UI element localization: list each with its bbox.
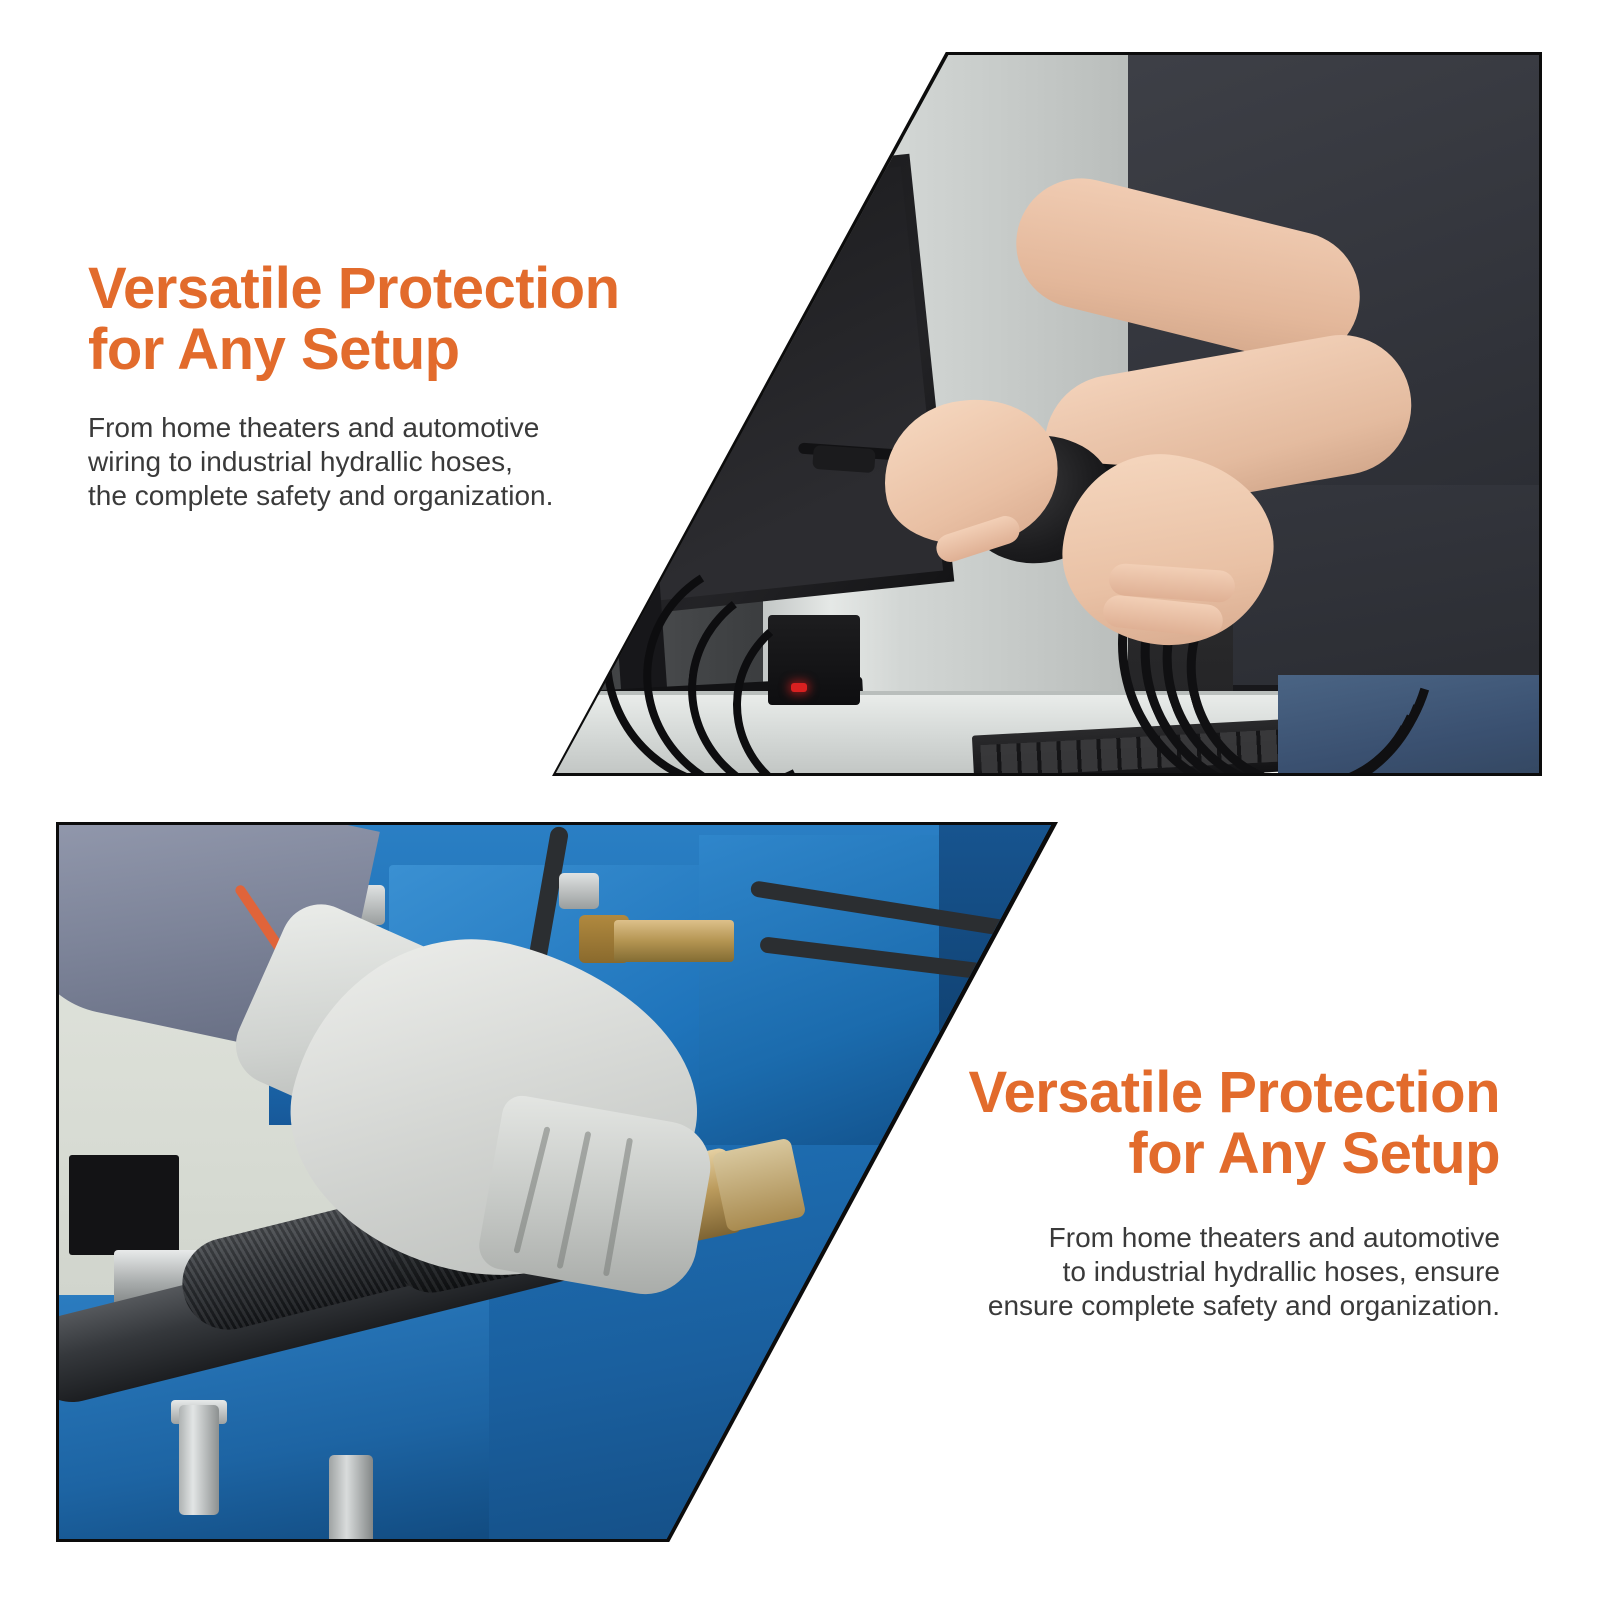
hex-nut xyxy=(559,873,599,909)
blue-machine-dark-panel xyxy=(939,825,1055,1075)
brass-fitting xyxy=(614,920,734,962)
quick-coupler-2 xyxy=(329,1455,373,1539)
bottom-headline: Versatile Protectionfor Any Setup xyxy=(880,1062,1500,1185)
bottom-headline-line1: Versatile Protection xyxy=(968,1060,1500,1125)
office-cable-photo xyxy=(543,55,1539,773)
top-body-text: From home theaters and automotivewiring … xyxy=(88,381,648,513)
product-feature-banner: Versatile Protectionfor Any Setup From h… xyxy=(0,0,1600,1600)
top-text-block: Versatile Protectionfor Any Setup From h… xyxy=(88,258,648,513)
quick-coupler xyxy=(179,1405,219,1515)
bottom-body-line2: to industrial hydrallic hoses, ensure xyxy=(880,1255,1500,1289)
top-headline: Versatile Protectionfor Any Setup xyxy=(88,258,648,381)
top-body-line2: wiring to industrial hydrallic hoses, xyxy=(88,445,648,479)
top-body-line1: From home theaters and automotive xyxy=(88,411,648,445)
bottom-headline-line2: for Any Setup xyxy=(880,1123,1500,1184)
bottom-body-text: From home theaters and automotiveto indu… xyxy=(880,1185,1500,1323)
top-headline-line2: for Any Setup xyxy=(88,319,648,380)
cable-connector xyxy=(812,445,876,473)
top-photo-panel xyxy=(540,52,1542,776)
bottom-body-line3: ensure complete safety and organization. xyxy=(880,1289,1500,1323)
black-valve-block xyxy=(69,1155,179,1255)
bottom-text-block: Versatile Protectionfor Any Setup From h… xyxy=(880,1062,1500,1323)
bottom-body-line1: From home theaters and automotive xyxy=(880,1221,1500,1255)
work-glove-fingers xyxy=(475,1093,717,1303)
top-body-line3: the complete safety and organization. xyxy=(88,479,648,513)
brass-hose-end xyxy=(712,1138,807,1233)
top-headline-line1: Versatile Protection xyxy=(88,256,620,321)
top-photo-frame xyxy=(543,55,1539,773)
